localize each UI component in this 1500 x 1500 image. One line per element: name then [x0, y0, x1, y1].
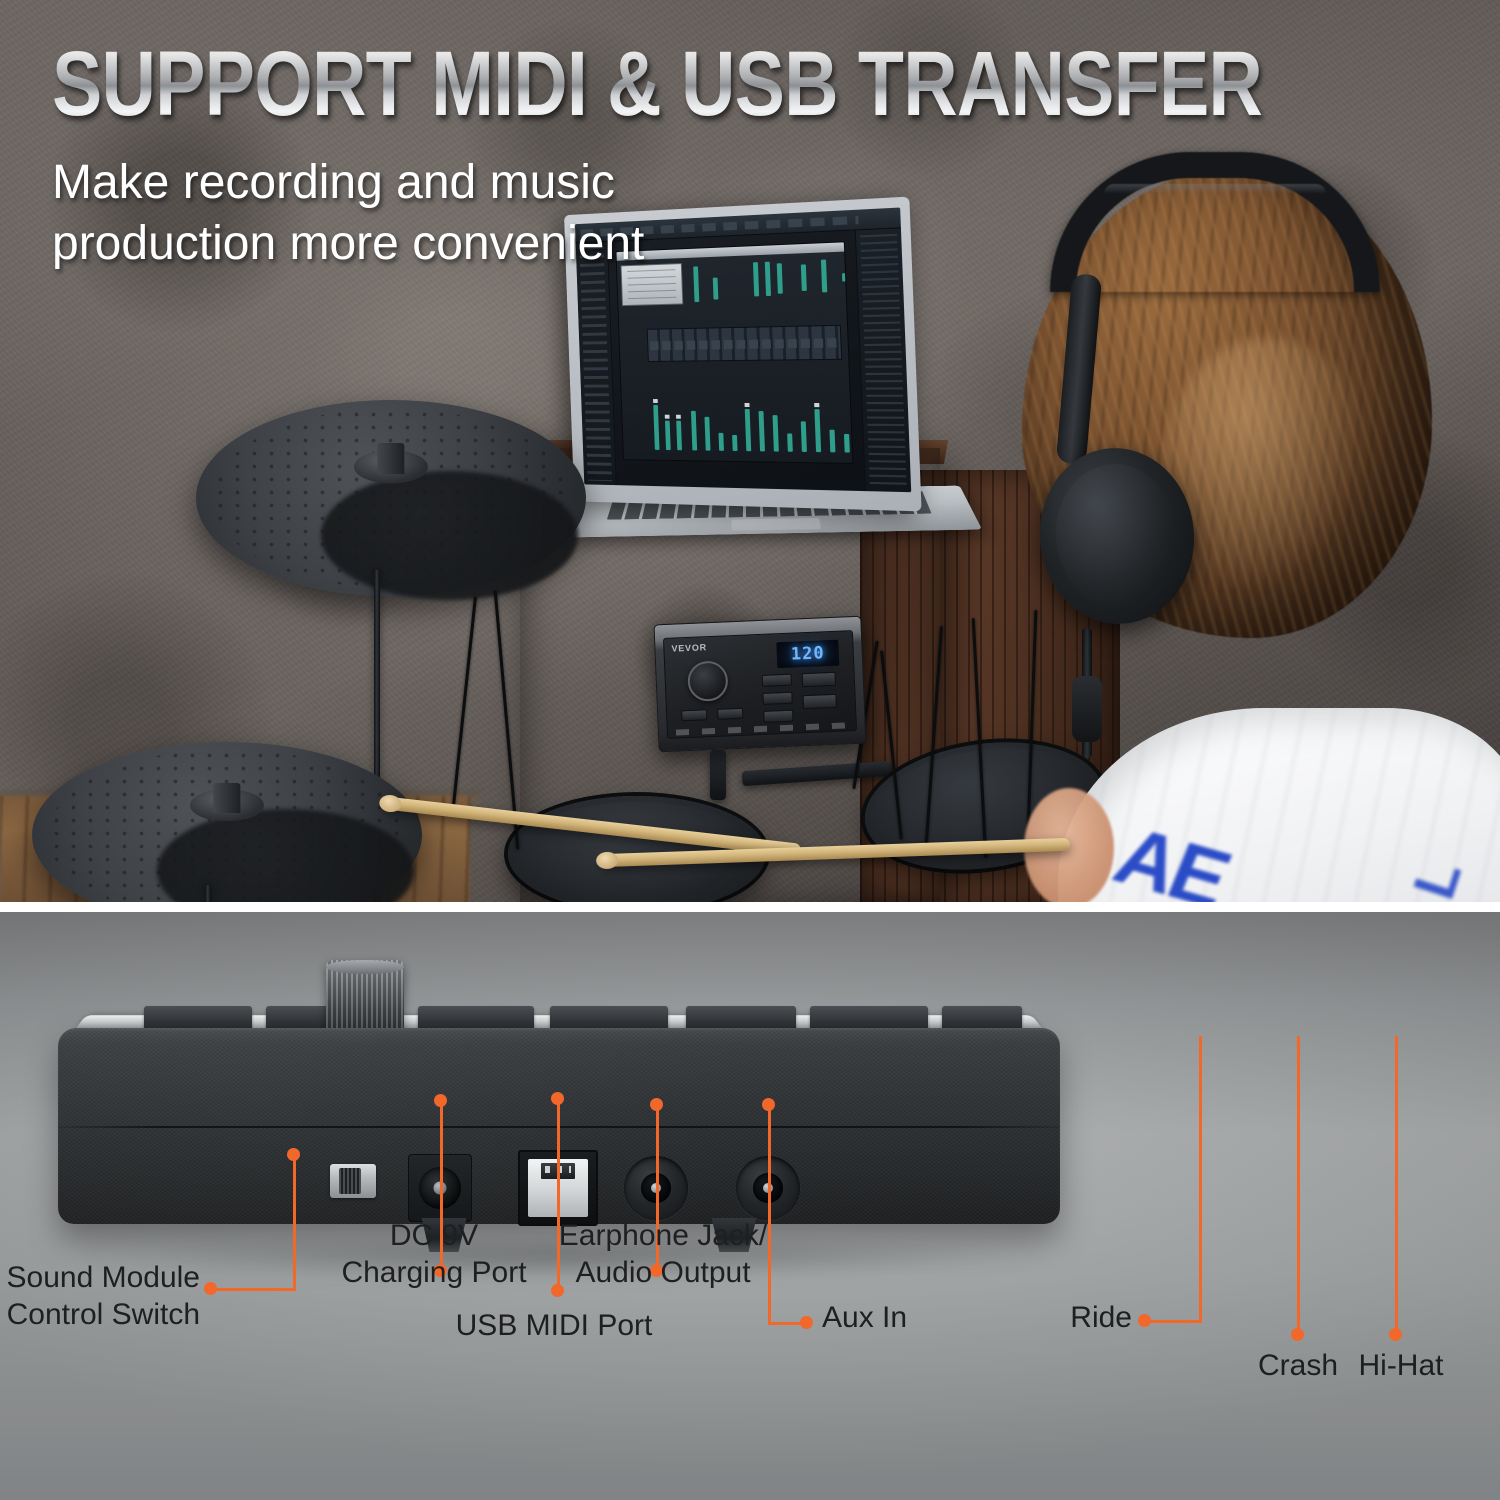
callout-hi-hat: Hi-Hat: [1326, 1348, 1476, 1385]
laptop-trackpad: [731, 518, 821, 531]
module-button: [803, 694, 838, 709]
leader-line-sound-module: [210, 1288, 296, 1291]
callout-usb-midi-port: USB MIDI Port: [404, 1308, 704, 1345]
white-tshirt: AE L: [1058, 708, 1500, 908]
leader-dot-aux-label: [800, 1316, 813, 1329]
volume-knob: [326, 960, 404, 1032]
leader-line-crash: [1297, 1036, 1300, 1334]
leader-line-sound-module: [293, 1154, 296, 1290]
leader-dot-ride-label: [1138, 1314, 1151, 1327]
leader-dot-dc-port: [434, 1094, 447, 1107]
daw-browser-panel: [576, 242, 617, 485]
daw-playlist-panel: [855, 228, 911, 492]
leader-line-ride: [1144, 1320, 1202, 1323]
module-front-face: VEVOR 120: [663, 630, 857, 739]
sound-module-control-switch-port[interactable]: [330, 1164, 376, 1198]
pad-mount-post: [710, 750, 726, 800]
product-infographic: VEVOR 120: [0, 0, 1500, 1500]
drum-sound-module: VEVOR 120: [653, 616, 866, 753]
port-diagram-panel: Sound Module Control Switch DC 9V Chargi…: [0, 908, 1500, 1500]
module-button: [802, 672, 837, 687]
cymbal-pad-upper: [196, 400, 586, 596]
panel-divider: [0, 902, 1500, 912]
leader-dot-sound-module-port: [287, 1148, 300, 1161]
leader-dot-crash-label: [1291, 1328, 1304, 1341]
module-button: [717, 708, 743, 720]
hair-highlight: [1162, 338, 1372, 598]
module-button: [681, 709, 707, 721]
leader-dot-earphone-port: [650, 1098, 663, 1111]
daw-mixer-faders: [648, 372, 845, 456]
module-button: [762, 692, 792, 705]
cymbal-wing-nut: [377, 443, 404, 474]
cymbal-wing-nut: [213, 783, 240, 813]
leader-line-hihat: [1395, 1036, 1398, 1334]
callout-sound-module-control-switch: Sound Module Control Switch: [0, 1260, 200, 1333]
headphone-headband: [1050, 152, 1380, 292]
module-brand-logo: VEVOR: [671, 642, 707, 653]
module-led-display: 120: [776, 640, 839, 669]
callout-earphone-jack-audio-output: Earphone Jack/ Audio Output: [518, 1218, 808, 1291]
lifestyle-photo-panel: VEVOR 120: [0, 0, 1500, 908]
module-button: [762, 674, 792, 687]
module-volume-knob: [687, 660, 729, 702]
page-subtitle: Make recording and music production more…: [52, 152, 792, 275]
cymbal-shadow: [321, 471, 578, 600]
daw-step-sequencer: [647, 325, 842, 362]
leader-dot-hihat-label: [1389, 1328, 1402, 1341]
module-tempo-value: 120: [791, 643, 826, 664]
leader-dot-aux-port: [762, 1098, 775, 1111]
drummer: AE L: [1012, 148, 1500, 908]
module-button-labels: [676, 722, 848, 735]
leader-dot-sound-module-label: [204, 1282, 217, 1295]
leader-dot-usb-port: [551, 1092, 564, 1105]
callout-ride: Ride: [960, 1300, 1132, 1337]
module-button: [763, 710, 793, 723]
page-title: SUPPORT MIDI & USB TRANSFER: [52, 38, 1262, 130]
leader-line-ride: [1199, 1036, 1202, 1322]
